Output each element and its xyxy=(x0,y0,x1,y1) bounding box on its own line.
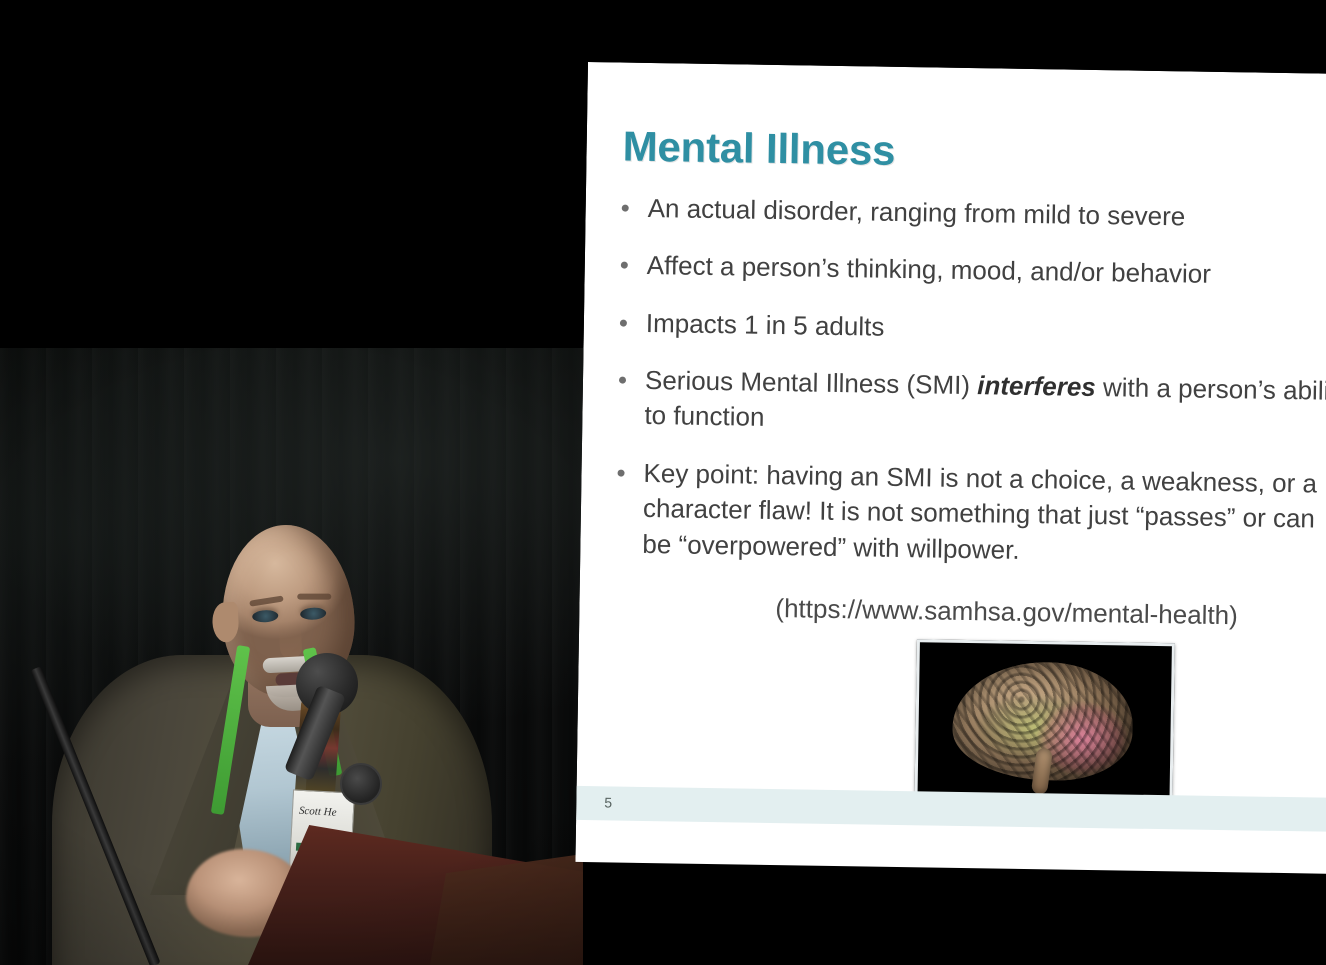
projected-slide-region[interactable]: Mental Illness An actual disorder, rangi… xyxy=(575,62,1326,894)
slide-surface: Mental Illness An actual disorder, rangi… xyxy=(575,62,1326,874)
slide-bullet-list: An actual disorder, ranging from mild to… xyxy=(608,190,1326,594)
speaker-eye-right xyxy=(300,607,327,620)
speaker-video-pane[interactable]: Scott He xyxy=(0,348,583,965)
slide-bullet-4: Serious Mental Illness (SMI) interferes … xyxy=(610,362,1326,444)
slide-footer-band xyxy=(576,786,1326,832)
speaker-nose xyxy=(279,620,303,659)
speaker-figure: Scott He xyxy=(0,348,583,965)
speaker-eye-left xyxy=(252,610,279,623)
speaker-eyebrow-right xyxy=(297,594,331,600)
slide-bullet-5: Key point: having an SMI is not a choice… xyxy=(608,455,1326,573)
slide-bullet-4-prefix: Serious Mental Illness (SMI) xyxy=(645,365,978,400)
slide-bullet-3: Impacts 1 in 5 adults xyxy=(612,305,1326,352)
slide-page-number: 5 xyxy=(604,794,612,810)
speaker-ear xyxy=(211,602,239,643)
slide-bullet-4-emphasis: interferes xyxy=(977,370,1096,402)
slide-bullet-2: Affect a person’s thinking, mood, and/or… xyxy=(613,248,1326,295)
slide-title: Mental Illness xyxy=(622,123,895,175)
slide-bullet-1: An actual disorder, ranging from mild to… xyxy=(613,190,1326,237)
speaker-eyebrow-left xyxy=(249,595,284,606)
screen-root: Scott He Mental Illness An actual disord… xyxy=(0,0,1326,965)
name-badge-text: Scott He xyxy=(299,805,337,819)
slide-source-citation: (https://www.samhsa.gov/mental-health) xyxy=(775,593,1238,631)
microphone-mount-ring xyxy=(340,763,382,805)
